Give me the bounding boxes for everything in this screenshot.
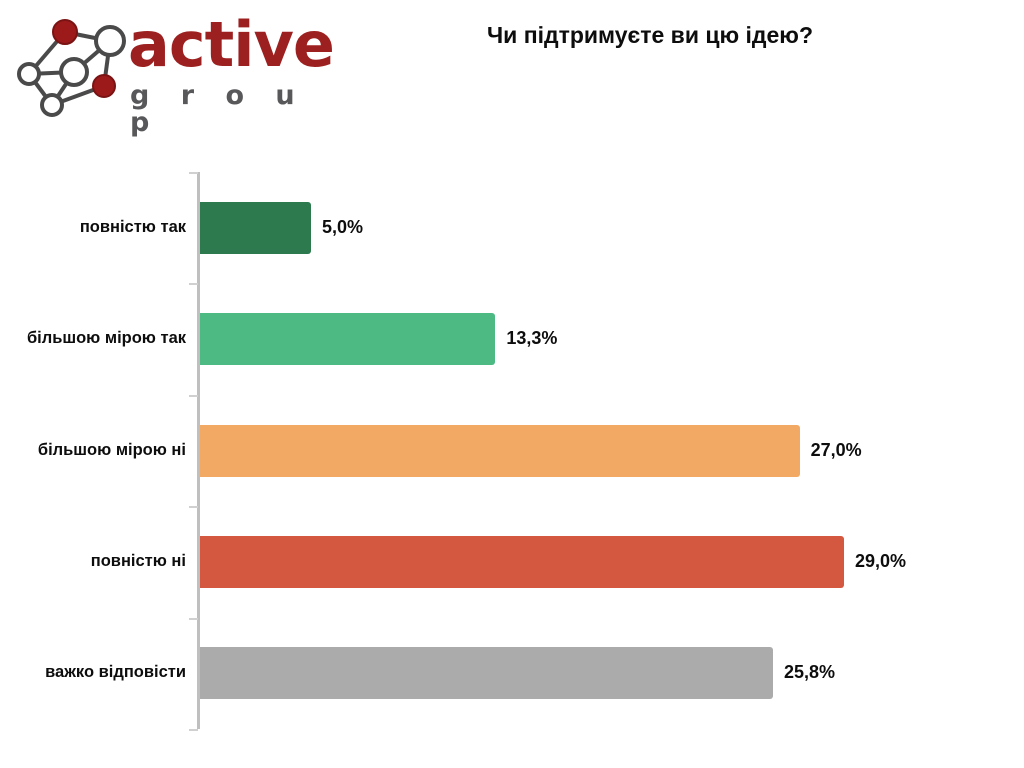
bar [200,425,800,477]
axis-tick [189,729,198,731]
category-label: більшою мірою так [27,329,186,348]
bar-value-label: 5,0% [322,217,363,238]
axis-tick [189,283,198,285]
axis-tick [189,618,198,620]
category-label: повністю так [80,218,186,237]
bar-value-label: 13,3% [506,328,557,349]
axis-tick [189,395,198,397]
bar-chart: повністю так5,0%більшою мірою так13,3%бі… [0,0,1024,768]
category-label: більшою мірою ні [38,441,186,460]
bar-value-label: 27,0% [811,440,862,461]
bar-value-label: 25,8% [784,662,835,683]
bar [200,202,311,254]
category-label: повністю ні [91,552,186,571]
bar [200,647,773,699]
axis-tick [189,172,198,174]
axis-tick [189,506,198,508]
bar [200,313,495,365]
bar-value-label: 29,0% [855,551,906,572]
category-label: важко відповісти [45,663,186,682]
bar [200,536,844,588]
